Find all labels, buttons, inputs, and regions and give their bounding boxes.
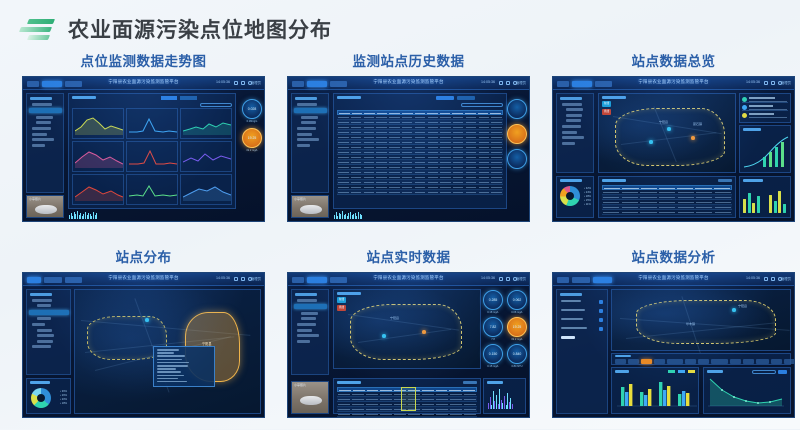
chart-icon[interactable] <box>764 277 768 281</box>
bar-chart-title <box>615 370 629 373</box>
page-title: 农业面源污染点位地图分布 <box>68 14 332 44</box>
donut-legend: ▪ 32%▪ 24%▪ 18%▪ 15%▪ 11% <box>584 187 591 207</box>
charts-pane <box>68 93 236 209</box>
sidebar-item-7[interactable] <box>297 144 310 147</box>
map-legend: 在线 离线 <box>337 297 346 313</box>
gauge-ph[interactable]: 7.82 7.8 <box>483 317 503 341</box>
map-label: 宁阳县 <box>659 120 668 124</box>
bars-pane <box>739 176 791 218</box>
realtime-table-pane <box>333 378 481 414</box>
nav-tag-home[interactable] <box>557 277 569 283</box>
panel-caption: 站点分布 <box>22 248 265 272</box>
nav-tag-home[interactable] <box>27 81 39 87</box>
device-image <box>35 205 57 214</box>
county-boundary <box>615 108 725 166</box>
nav-tag-monitor[interactable] <box>307 81 327 87</box>
gauge-label: 19.2 mg/L <box>242 149 262 152</box>
gauge-value: 19.25 <box>243 129 261 147</box>
nav-tag-monitor[interactable] <box>307 277 327 283</box>
dashboard-topbar: 宁阳县农业面源污染监测监管平台 14:05:36 管理员 <box>288 273 529 286</box>
clock: 14:05:36 <box>216 276 230 280</box>
gauge-ring: 0.840 <box>507 344 527 364</box>
panel-station-distribution: 站点分布 宁阳县农业面源污染监测监管平台 14:05:36 管理员 <box>22 248 265 430</box>
gauge-ring: 0.150 <box>483 344 503 364</box>
data-table[interactable] <box>337 387 477 411</box>
gauge-ring: 0.285 <box>483 290 503 310</box>
nav-tag-analysis[interactable] <box>65 277 82 283</box>
dashboard-screenshot[interactable]: 宁阳县农业面源污染监测监管平台 14:05:36 管理员 <box>287 76 530 222</box>
donut-pane: ▪ 36%▪ 26%▪ 20%▪ 18% <box>26 378 71 414</box>
panel-caption: 站点实时数据 <box>287 248 530 272</box>
query-button[interactable] <box>180 96 197 100</box>
system-title: 宁阳县农业面源污染监测监管平台 <box>108 79 178 85</box>
sidebar <box>291 93 329 193</box>
donut-chart[interactable] <box>560 186 580 206</box>
panel-row-2: 站点分布 宁阳县农业面源污染监测监管平台 14:05:36 管理员 <box>0 248 800 430</box>
photo-label: 小亭照片 <box>294 197 306 201</box>
photo-label: 小亭照片 <box>294 383 306 387</box>
mini-chart-grid <box>72 108 232 205</box>
sidebar-item-0[interactable] <box>32 103 52 106</box>
sidebar-item-7[interactable] <box>297 340 310 343</box>
legend-online: 在线 <box>337 297 346 303</box>
mini-chart-cod[interactable] <box>72 141 124 172</box>
metric-tabs[interactable] <box>615 359 795 364</box>
bar-group-tp[interactable] <box>769 187 786 213</box>
overview-table-pane <box>598 176 736 218</box>
donut-legend: ▪ 36%▪ 26%▪ 20%▪ 18% <box>60 390 67 406</box>
station-photo[interactable]: 小亭照片 <box>26 195 64 218</box>
tab-tn[interactable] <box>615 359 626 364</box>
sidebar-item-1[interactable] <box>37 304 51 307</box>
sidebar-item-6[interactable] <box>37 334 54 337</box>
gauge-value: 0.028 <box>243 100 261 118</box>
gauge-tn[interactable] <box>507 99 527 119</box>
gauge-value: 7.82 <box>484 318 502 336</box>
clock: 14:05:36 <box>481 80 495 84</box>
panel-data-analysis: 站点数据分析 宁阳县农业面源污染监测监管平台 14:05:36 管理员 <box>552 248 795 430</box>
gauge-ring: 19.25 <box>242 128 262 148</box>
gauge-value: 0.150 <box>484 345 502 363</box>
data-table[interactable] <box>337 110 503 206</box>
panel-trend-charts: 点位监测数据走势图 宁阳县农业面源污染监测监管平台 14:05:36 管理员 <box>22 52 265 234</box>
sidebar-item-5[interactable] <box>297 133 312 136</box>
donut-pane: ▪ 32%▪ 24%▪ 18%▪ 15%▪ 11% <box>556 176 594 218</box>
station-node-alert[interactable] <box>422 330 426 334</box>
nav-tag-monitor[interactable] <box>572 81 592 87</box>
nav-tag-monitor[interactable] <box>42 81 62 87</box>
mini-chart-tn[interactable] <box>72 108 124 139</box>
chart-title <box>487 381 503 384</box>
sidebar-item-4[interactable] <box>32 323 45 326</box>
sidebar <box>26 289 71 375</box>
bar-chart-pane <box>611 367 699 414</box>
sidebar-item-7[interactable] <box>562 142 575 145</box>
sidebar-item-3[interactable] <box>566 119 581 122</box>
sidebar-header <box>560 293 582 296</box>
sidebar-item-2[interactable] <box>29 310 69 315</box>
more-button[interactable] <box>463 381 477 384</box>
clock: 14:05:36 <box>746 276 760 280</box>
gauge-label: 7.8 <box>483 338 503 341</box>
sidebar-item-5[interactable] <box>297 329 312 332</box>
sidebar-item-3[interactable] <box>561 327 607 331</box>
mini-chart-do[interactable] <box>72 174 124 205</box>
donut-chart[interactable] <box>31 388 51 408</box>
table-row[interactable] <box>337 190 503 195</box>
export-icon[interactable] <box>771 81 775 85</box>
panel-caption: 站点数据分析 <box>552 248 795 272</box>
gauge-label: 0.18 mg/L <box>483 311 503 314</box>
export-icon[interactable] <box>771 277 775 281</box>
panel-caption: 点位监测数据走势图 <box>22 52 265 76</box>
sidebar-item-7[interactable] <box>37 340 53 343</box>
gauge-turbidity[interactable]: 0.840 0.84 NTU <box>507 344 527 368</box>
map-label: 华丰镇 <box>686 322 695 326</box>
dashboard-screenshot[interactable]: 宁阳县农业面源污染监测监管平台 14:05:36 管理员 <box>552 76 795 222</box>
chart-icon[interactable] <box>499 277 503 281</box>
gauge-ring: 0.028 <box>242 99 262 119</box>
mini-chart-nh3[interactable] <box>180 108 232 139</box>
sidebar-header <box>295 97 317 100</box>
user-label[interactable]: 管理员 <box>516 276 526 281</box>
status-card-tp[interactable] <box>742 104 788 111</box>
station-photo[interactable]: 小亭照片 <box>291 195 329 218</box>
panel-data-overview: 站点数据总览 宁阳县农业面源污染监测监管平台 14:05:36 管理员 <box>552 52 795 234</box>
sidebar-item-4[interactable] <box>297 323 316 326</box>
system-title: 宁阳县农业面源污染监测监管平台 <box>638 79 708 85</box>
table-title <box>337 381 361 384</box>
gauge-ring <box>507 149 527 169</box>
sidebar <box>556 289 608 414</box>
growth-chart-pane <box>739 125 791 173</box>
metric-tabs-pane <box>611 353 791 365</box>
sidebar-item-4[interactable] <box>561 336 607 340</box>
dashboard-screenshot[interactable]: 宁阳县农业面源污染监测监管平台 14:05:36 管理员 <box>22 76 265 222</box>
nav-tag-home[interactable] <box>292 81 304 87</box>
sidebar <box>291 289 329 375</box>
status-card-nh3[interactable] <box>742 112 788 119</box>
sidebar-item-3[interactable] <box>301 121 316 124</box>
sidebar-item-6[interactable] <box>297 334 319 337</box>
tab-algae[interactable] <box>771 359 782 364</box>
trend-chart-pane <box>483 378 526 414</box>
map-title <box>337 292 361 295</box>
export-button[interactable] <box>161 96 177 100</box>
region-info-popup[interactable] <box>153 346 215 387</box>
nav-tag-analysis[interactable] <box>65 81 82 87</box>
gauge-tp[interactable]: 0.062 0.06 mg/L <box>507 290 527 314</box>
chart-icon[interactable] <box>764 81 768 85</box>
sidebar-item-6[interactable] <box>562 136 584 139</box>
tab-cod[interactable] <box>667 359 683 364</box>
gauge-ring: 0.062 <box>507 290 527 310</box>
nav-tag-analysis[interactable] <box>330 81 347 87</box>
sidebar-header <box>30 97 52 100</box>
bar-group-tn[interactable] <box>743 187 760 213</box>
donut-title <box>30 381 50 384</box>
user-label[interactable]: 管理员 <box>516 80 526 85</box>
nav-tag-analysis[interactable] <box>595 81 612 87</box>
panel-grid: 点位监测数据走势图 宁阳县农业面源污染监测监管平台 14:05:36 管理员 <box>0 52 800 430</box>
leaf-swoosh-logo <box>18 16 58 42</box>
selected-column-highlight <box>401 387 416 411</box>
system-title: 宁阳县农业面源污染监测监管平台 <box>108 275 178 281</box>
station-node[interactable] <box>732 308 736 312</box>
sidebar-item-1[interactable] <box>566 108 583 111</box>
table-row[interactable] <box>602 210 732 215</box>
tab-tp[interactable] <box>628 359 639 364</box>
bottom-sparkline <box>69 211 261 219</box>
sidebar-item-2[interactable] <box>301 312 318 315</box>
sidebar-item-2[interactable] <box>36 116 53 119</box>
sidebar-item-2[interactable] <box>561 318 607 322</box>
checkbox-icon[interactable] <box>599 309 603 313</box>
area-decay-chart[interactable] <box>708 377 784 409</box>
status-card-tn[interactable] <box>742 96 788 103</box>
station-node[interactable] <box>667 127 671 131</box>
history-table-pane <box>333 93 507 209</box>
dashboard-topbar: 宁阳县农业面源污染监测监管平台 14:05:36 管理员 <box>23 273 264 286</box>
area-chart-pane <box>703 367 791 414</box>
station-node[interactable] <box>145 318 149 322</box>
status-cards-pane <box>739 93 791 123</box>
tab-chlorophyll[interactable] <box>756 359 769 364</box>
data-table[interactable] <box>602 185 732 215</box>
gauge-ring <box>507 99 527 119</box>
map-pane[interactable]: 在线 离线 宁阳县 <box>333 289 481 369</box>
sidebar-item-1[interactable] <box>29 108 62 113</box>
bottom-sparkline <box>334 211 526 219</box>
sidebar-item-6[interactable] <box>297 138 319 141</box>
clock: 14:05:36 <box>746 80 760 84</box>
tab-do[interactable] <box>711 359 728 364</box>
gauge-ring <box>507 124 527 144</box>
map-label: 宁阳县 <box>738 304 747 308</box>
dashboard-screenshot[interactable]: 宁阳县农业面源污染监测监管平台 14:05:36 管理员 <box>552 272 795 418</box>
grouped-bar-chart[interactable] <box>617 376 697 410</box>
legend-online: 在线 <box>602 101 611 107</box>
date-range-input[interactable] <box>461 103 503 107</box>
legend-offline: 离线 <box>337 305 346 311</box>
panel-caption: 站点数据总览 <box>552 52 795 76</box>
map-title <box>602 96 626 99</box>
sidebar-item-8[interactable] <box>32 345 51 348</box>
export-icon[interactable] <box>506 277 510 281</box>
sidebar <box>556 93 594 173</box>
table-row[interactable] <box>337 412 477 417</box>
tab-turbidity[interactable] <box>654 359 665 364</box>
date-range-input[interactable] <box>752 370 776 374</box>
panel-realtime-data: 站点实时数据 宁阳县农业面源污染监测监管平台 14:05:36 管理员 <box>287 248 530 430</box>
nav-tag-analysis[interactable] <box>330 277 347 283</box>
sidebar-item-3[interactable] <box>37 317 51 320</box>
sidebar-item-6[interactable] <box>32 138 54 141</box>
tab-permanganate[interactable] <box>784 359 795 364</box>
growth-curve <box>743 135 789 169</box>
gauge-label: 0.15 mg/L <box>483 365 503 368</box>
sidebar-item-0[interactable] <box>32 299 52 302</box>
panel-history-table: 监测站点历史数据 宁阳县农业面源污染监测监管平台 14:05:36 管理员 <box>287 52 530 234</box>
legend-offline: 离线 <box>602 109 611 115</box>
area-chart-title <box>707 370 723 373</box>
tab-temp[interactable] <box>698 359 709 364</box>
search-input[interactable] <box>337 96 361 99</box>
gauge-value: 0.285 <box>484 291 502 309</box>
map-pane[interactable]: 宁阳县 华丰镇 <box>611 289 791 351</box>
gauge-nh3[interactable]: 0.150 0.15 mg/L <box>483 344 503 368</box>
clock: 14:05:36 <box>216 80 230 84</box>
user-label[interactable]: 管理员 <box>251 276 261 281</box>
station-photo[interactable]: 小亭照片 <box>291 381 329 414</box>
dashboard-topbar: 宁阳县农业面源污染监测监管平台 14:05:36 管理员 <box>553 273 794 286</box>
gauge-value: 19.25 <box>508 318 526 336</box>
sidebar-item-5[interactable] <box>562 131 577 134</box>
export-report-button[interactable] <box>436 96 454 100</box>
sidebar-item-1[interactable] <box>561 309 607 313</box>
system-title: 宁阳县农业面源污染监测监管平台 <box>373 79 443 85</box>
gauge-tp[interactable]: 19.25 19.2 mg/L <box>242 128 262 152</box>
dashboard-screenshot[interactable]: 宁阳县农业面源污染监测监管平台 14:05:36 管理员 <box>22 272 265 418</box>
dashboard-screenshot[interactable]: 宁阳县农业面源污染监测监管平台 14:05:36 管理员 <box>287 272 530 418</box>
sidebar-item-2[interactable] <box>566 114 582 117</box>
photo-label: 小亭照片 <box>29 197 41 201</box>
gauge-list <box>507 99 527 169</box>
sidebar-item-4[interactable] <box>297 127 316 130</box>
trend-sparkline <box>488 387 522 409</box>
county-boundary <box>350 304 462 360</box>
mini-chart-ph[interactable] <box>126 141 178 172</box>
gauge-nh3[interactable] <box>507 149 527 169</box>
system-title: 宁阳县农业面源污染监测监管平台 <box>373 275 443 281</box>
sidebar-item-3[interactable] <box>301 317 316 320</box>
tab-conductivity[interactable] <box>730 359 741 364</box>
gauge-value: 0.062 <box>508 291 526 309</box>
export-icon[interactable] <box>506 81 510 85</box>
growth-chart-title <box>743 128 761 131</box>
gauge-label: 0.06 mg/L <box>507 311 527 314</box>
gauge-list: 0.028 0.18mg/L 19.25 19.2 mg/L <box>242 99 262 152</box>
dashboard-topbar: 宁阳县农业面源污染监测监管平台 14:05:36 管理员 <box>553 77 794 90</box>
sidebar-item-1[interactable] <box>294 108 327 113</box>
user-label[interactable]: 管理员 <box>251 80 261 85</box>
history-query-button[interactable] <box>457 96 475 100</box>
tab-turbidity-2[interactable] <box>743 359 754 364</box>
search-input[interactable] <box>72 96 96 99</box>
sidebar-item-5[interactable] <box>32 133 47 136</box>
export-icon[interactable] <box>241 81 245 85</box>
panel-caption: 监测站点历史数据 <box>287 52 530 76</box>
sidebar-header <box>295 293 317 296</box>
sidebar-item-0[interactable] <box>297 103 317 106</box>
user-label[interactable]: 管理员 <box>781 276 791 281</box>
sidebar-item-4[interactable] <box>32 127 51 130</box>
sidebar-item-0[interactable] <box>562 103 582 106</box>
donut-title <box>560 179 582 182</box>
gauge-ring: 19.25 <box>507 317 527 337</box>
sidebar-item-4[interactable] <box>562 125 581 128</box>
tab-ph[interactable] <box>685 359 696 364</box>
user-label[interactable]: 管理员 <box>781 80 791 85</box>
gauge-label: 0.84 NTU <box>507 365 527 368</box>
device-image <box>300 205 322 214</box>
device-image <box>300 396 322 405</box>
station-node[interactable] <box>382 334 386 338</box>
gauge-label: 19.2 mg/L <box>507 338 527 341</box>
sidebar-item-0[interactable] <box>561 300 607 304</box>
checkbox-icon[interactable] <box>599 300 603 304</box>
date-range-input[interactable] <box>200 103 232 107</box>
map-label: 宁阳县 <box>390 316 399 320</box>
mini-chart-tp[interactable] <box>126 108 178 139</box>
tab-nh3[interactable] <box>641 359 652 364</box>
nav-tag-home[interactable] <box>557 81 569 87</box>
sidebar-item-7[interactable] <box>32 144 45 147</box>
dashboard-topbar: 宁阳县农业面源污染监测监管平台 14:05:36 管理员 <box>23 77 264 90</box>
map-legend: 在线 离线 <box>602 101 611 117</box>
sidebar-header <box>560 97 582 100</box>
clock: 14:05:36 <box>481 276 495 280</box>
bar-chart-legend <box>668 370 695 373</box>
map-pane[interactable]: 宁阳县 <box>74 289 261 414</box>
station-node[interactable] <box>649 140 653 144</box>
county-boundary <box>636 300 776 344</box>
sidebar <box>26 93 64 193</box>
map-pane[interactable]: 在线 离线 宁阳县 葛石镇 <box>598 93 736 173</box>
gauge-do[interactable]: 19.25 19.2 mg/L <box>507 317 527 341</box>
nav-tag-monitor[interactable] <box>44 277 62 283</box>
sidebar-item-5[interactable] <box>37 329 52 332</box>
checkbox-icon[interactable] <box>599 318 603 322</box>
more-button[interactable] <box>718 179 732 182</box>
mini-chart-temp[interactable] <box>180 174 232 205</box>
mini-chart-turbidity[interactable] <box>180 141 232 172</box>
dashboard-topbar: 宁阳县农业面源污染监测监管平台 14:05:36 管理员 <box>288 77 529 90</box>
system-title: 宁阳县农业面源污染监测监管平台 <box>638 275 708 281</box>
gauge-ring: 7.82 <box>483 317 503 337</box>
export-icon[interactable] <box>241 277 245 281</box>
table-title <box>602 179 626 182</box>
chart-icon[interactable] <box>234 81 238 85</box>
checkbox-icon[interactable] <box>599 327 603 331</box>
gauge-grid: 0.285 0.18 mg/L 0.062 0.06 mg/L 7.82 7.8… <box>483 290 526 368</box>
sidebar-header <box>30 293 52 296</box>
gauge-label: 0.18mg/L <box>242 120 262 123</box>
map-label: 葛石镇 <box>693 122 702 126</box>
gauge-tn[interactable]: 0.285 0.18 mg/L <box>483 290 503 314</box>
gauge-tn[interactable]: 0.028 0.18mg/L <box>242 99 262 123</box>
gauge-value: 0.840 <box>508 345 526 363</box>
sidebar-item-0[interactable] <box>297 299 317 302</box>
nav-tag-monitor[interactable] <box>572 277 590 283</box>
panel-row-1: 点位监测数据走势图 宁阳县农业面源污染监测监管平台 14:05:36 管理员 <box>0 52 800 234</box>
page-header: 农业面源污染点位地图分布 <box>0 0 800 48</box>
refresh-button[interactable] <box>778 370 787 374</box>
station-node-alert[interactable] <box>691 136 695 140</box>
bars-title <box>743 179 763 182</box>
tabs-title <box>615 355 631 357</box>
sidebar-item-2[interactable] <box>301 116 318 119</box>
nav-tag-analysis[interactable] <box>593 277 612 283</box>
sidebar-item-1[interactable] <box>294 304 327 309</box>
nav-tag-home[interactable] <box>292 277 304 283</box>
chart-icon[interactable] <box>234 277 238 281</box>
nav-tag-home[interactable] <box>27 277 41 283</box>
sidebar-item-3[interactable] <box>36 121 51 124</box>
mini-chart-conductivity[interactable] <box>126 174 178 205</box>
chart-icon[interactable] <box>499 81 503 85</box>
gauge-tp[interactable] <box>507 124 527 144</box>
